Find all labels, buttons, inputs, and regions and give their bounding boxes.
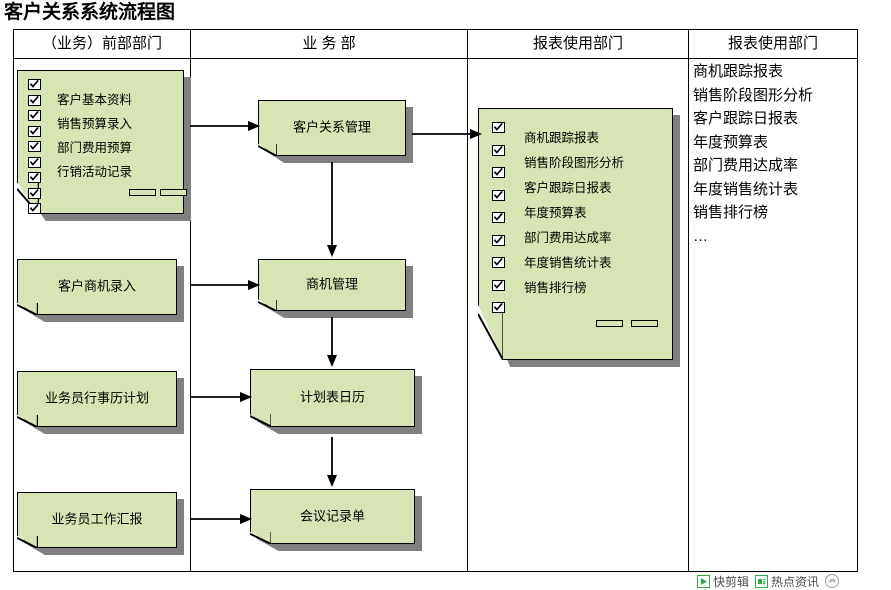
checklist-checkbox-row[interactable] [28,95,41,106]
checklist-checkbox-row[interactable] [492,257,505,268]
checkmark-icon[interactable] [492,235,505,246]
doc-meeting-minutes[interactable]: 会议记录单 [250,489,415,544]
checkmark-icon[interactable] [492,122,505,133]
doc-label: 业务员行事历计划 [17,388,177,407]
checkmark-icon[interactable] [28,126,41,137]
checklist-item-label: 客户跟踪日报表 [524,177,612,196]
table-header-row: （业务）前部部门 业 务 部 报表使用部门 报表使用部门 [14,30,857,59]
checklist-checkbox-row[interactable] [28,157,41,168]
checkmark-icon[interactable] [28,203,41,214]
arrow-plan-calendar-to-meeting-minutes [326,437,338,487]
checklist-checkbox-row[interactable] [492,235,505,246]
checklist-item: 商机跟踪报表 [524,127,599,146]
doc-customer-opportunity-entry[interactable]: 客户商机录入 [17,259,177,315]
doc-minibar-1[interactable] [596,320,623,327]
checklist-item-label: 销售阶段图形分析 [524,152,624,171]
doc-crm[interactable]: 客户关系管理 [258,100,406,156]
checklist-checkbox-row[interactable] [28,110,41,121]
checklist-item: 年度预算表 [524,202,587,221]
play-badge-icon [697,575,710,588]
page-title: 客户关系系统流程图 [4,0,175,26]
doc-label: 商机管理 [258,274,406,293]
status-quick-edit[interactable]: 快剪辑 [697,573,749,590]
checklist-checkbox-row[interactable] [28,126,41,137]
checkmark-icon[interactable] [492,280,505,291]
checklist-item-label: 商机跟踪报表 [524,127,599,146]
report-usage-list-item: 部门费用达成率 [693,154,813,178]
checklist-item-label: 年度销售统计表 [524,252,612,271]
checklist-item: 部门费用预算 [57,137,132,156]
report-usage-list-item: 年度预算表 [693,131,813,155]
checklist-item-label: 部门费用预算 [57,137,132,156]
checkmark-icon[interactable] [28,110,41,121]
checkmark-icon[interactable] [492,257,505,268]
checklist-checkbox-row[interactable] [492,122,505,133]
doc-label: 业务员工作汇报 [17,509,177,528]
checklist-item-label: 行销活动记录 [57,161,132,180]
status-hot-news[interactable]: 热点资讯 [755,573,819,590]
checkmark-icon[interactable] [28,141,41,152]
checklist-checkbox-row[interactable] [28,188,41,199]
checklist-checkbox-row[interactable] [492,280,505,291]
checklist-checkbox-row[interactable] [492,190,505,201]
checklist-item-label: 年度预算表 [524,202,587,221]
checklist-item-label: 销售排行榜 [524,277,587,296]
checklist-item-label: 销售预算录入 [57,113,132,132]
column-header-report-list: 报表使用部门 [689,30,857,59]
checklist-checkbox-row[interactable] [28,172,41,183]
checkmark-icon[interactable] [492,167,505,178]
checkmark-icon[interactable] [492,302,505,313]
status-quick-edit-label: 快剪辑 [713,573,749,590]
column-header-business-dept: 业 务 部 [191,30,467,59]
doc-report-dept-checklist[interactable]: 商机跟踪报表销售阶段图形分析客户跟踪日报表年度预算表部门费用达成率年度销售统计表… [478,108,673,360]
checklist-checkbox-row[interactable] [28,203,41,214]
column-divider-3 [688,30,689,571]
arrow-opportunity-entry-to-management [190,279,260,291]
doc-label: 计划表日历 [250,387,415,406]
checkmark-icon[interactable] [492,145,505,156]
doc-label: 会议记录单 [250,505,415,524]
arrow-crm-to-opportunity-management [326,162,338,257]
report-usage-list-item: 商机跟踪报表 [693,60,813,84]
arrow-opportunity-to-plan-calendar [326,317,338,367]
doc-salesperson-work-report[interactable]: 业务员工作汇报 [17,492,177,548]
doc-front-dept-checklist[interactable]: 客户基本资料销售预算录入部门费用预算行销活动记录 [17,70,184,214]
checklist-checkbox-row[interactable] [492,167,505,178]
checklist-checkbox-row[interactable] [28,79,41,90]
checkmark-icon[interactable] [28,95,41,106]
doc-opportunity-management[interactable]: 商机管理 [258,259,406,311]
doc-minibar-2[interactable] [160,189,187,196]
checkmark-icon[interactable] [28,157,41,168]
doc-label: 客户商机录入 [17,276,177,295]
column-header-front-dept: （业务）前部部门 [14,30,190,59]
arrow-work-report-to-meeting-minutes [190,513,252,525]
checklist-item: 销售预算录入 [57,113,132,132]
checklist-item: 销售排行榜 [524,277,587,296]
report-usage-list: 商机跟踪报表销售阶段图形分析客户跟踪日报表年度预算表部门费用达成率年度销售统计表… [693,60,813,248]
circle-glyph-icon[interactable] [825,574,839,588]
report-usage-list-item: 销售排行榜 [693,201,813,225]
checklist-item: 销售阶段图形分析 [524,152,624,171]
checkmark-icon[interactable] [28,188,41,199]
checkmark-icon[interactable] [492,190,505,201]
checklist-checkbox-row[interactable] [28,141,41,152]
doc-minibar-1[interactable] [129,189,156,196]
arrow-front-to-crm [190,120,260,132]
report-usage-list-item: 年度销售统计表 [693,178,813,202]
checkmark-icon[interactable] [28,172,41,183]
column-divider-2 [467,30,468,571]
checkmark-icon[interactable] [492,212,505,223]
checklist-item: 客户跟踪日报表 [524,177,612,196]
checklist-item: 年度销售统计表 [524,252,612,271]
report-usage-list-item: … [693,225,813,249]
column-header-report-dept: 报表使用部门 [468,30,688,59]
checkmark-icon[interactable] [28,79,41,90]
arrow-crm-to-reports [412,128,482,140]
report-usage-list-item: 销售阶段图形分析 [693,84,813,108]
checklist-item-label: 部门费用达成率 [524,227,612,246]
checklist-checkbox-row[interactable] [492,302,505,313]
checklist-item: 部门费用达成率 [524,227,612,246]
status-strip: 快剪辑 热点资讯 [697,572,839,590]
doc-label: 客户关系管理 [258,117,406,136]
news-badge-icon [755,575,768,588]
report-usage-list-item: 客户跟踪日报表 [693,107,813,131]
doc-plan-calendar[interactable]: 计划表日历 [250,369,415,427]
arrow-calendar-plan-to-plan-calendar [190,391,252,403]
checklist-item-label: 客户基本资料 [57,89,132,108]
status-hot-news-label: 热点资讯 [771,573,819,590]
checklist-item: 客户基本资料 [57,89,132,108]
checklist-checkbox-row[interactable] [492,145,505,156]
doc-minibar-2[interactable] [631,320,658,327]
doc-salesperson-calendar-plan[interactable]: 业务员行事历计划 [17,371,177,427]
checklist-item: 行销活动记录 [57,161,132,180]
checklist-checkbox-row[interactable] [492,212,505,223]
